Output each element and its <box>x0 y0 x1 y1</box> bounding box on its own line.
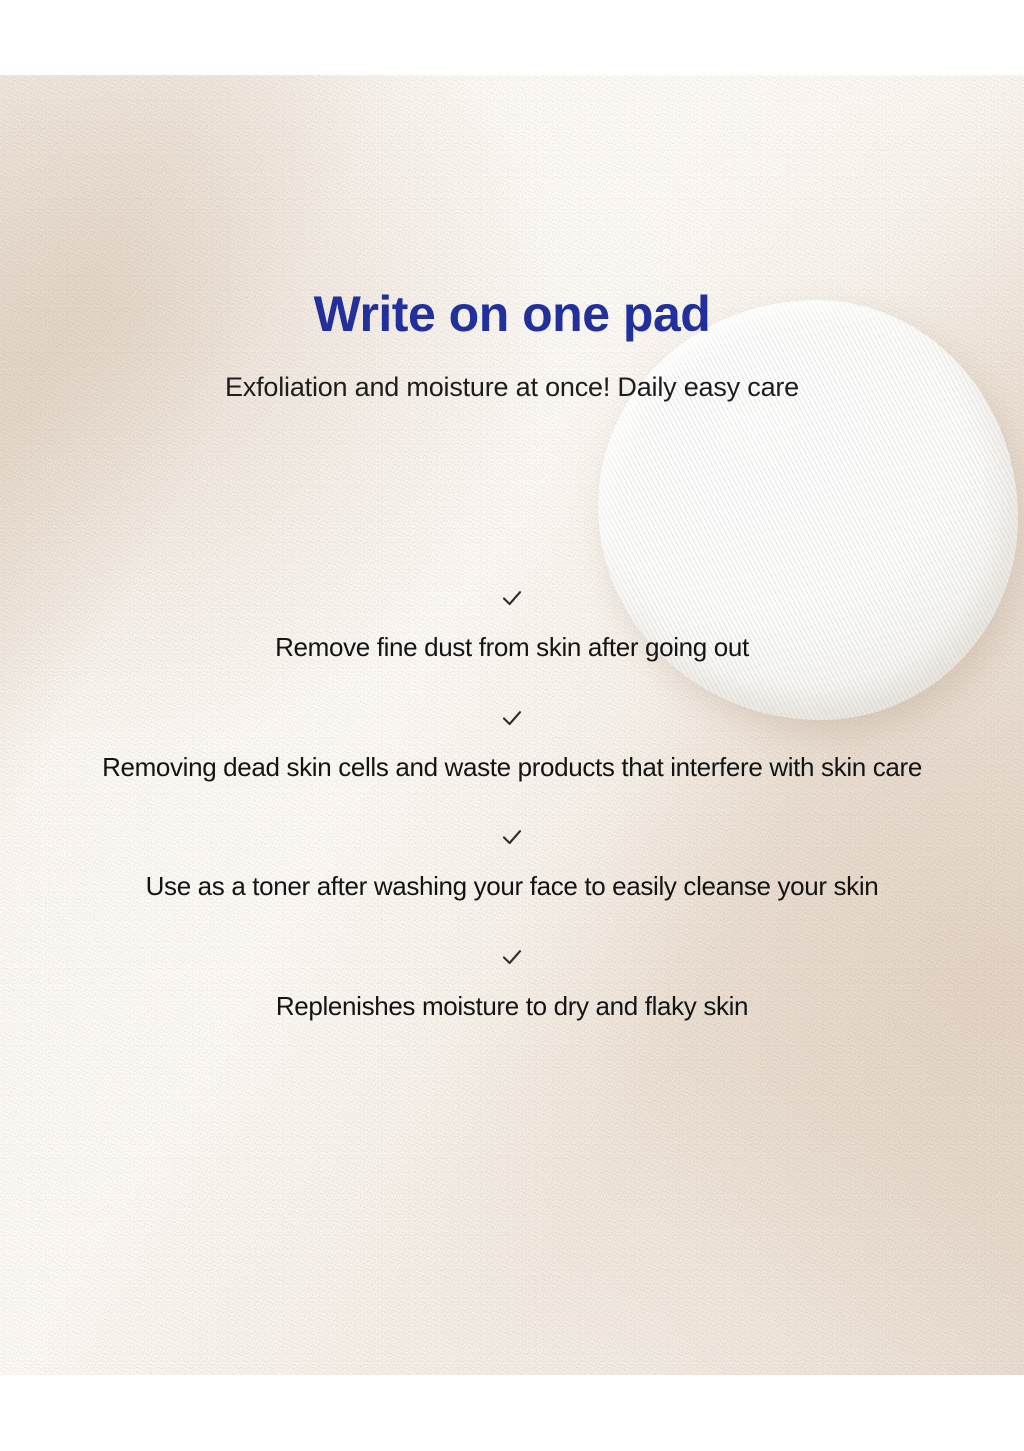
feature-text: Replenishes moisture to dry and flaky sk… <box>276 990 748 1023</box>
list-item: Replenishes moisture to dry and flaky sk… <box>0 947 1024 1023</box>
page-subtitle: Exfoliation and moisture at once! Daily … <box>0 371 1024 403</box>
check-icon <box>501 588 523 610</box>
list-item: Removing dead skin cells and waste produ… <box>0 708 1024 784</box>
list-item: Remove fine dust from skin after going o… <box>0 588 1024 664</box>
list-item: Use as a toner after washing your face t… <box>0 827 1024 903</box>
product-detail-banner: Write on one pad Exfoliation and moistur… <box>0 0 1024 1451</box>
feature-text: Use as a toner after washing your face t… <box>146 870 879 903</box>
feature-list: Remove fine dust from skin after going o… <box>0 588 1024 1022</box>
check-icon <box>501 947 523 969</box>
content-layer: Write on one pad Exfoliation and moistur… <box>0 0 1024 1451</box>
feature-text: Removing dead skin cells and waste produ… <box>102 751 922 784</box>
page-title: Write on one pad <box>0 289 1024 339</box>
check-icon <box>501 827 523 849</box>
check-icon <box>501 708 523 730</box>
feature-text: Remove fine dust from skin after going o… <box>275 631 749 664</box>
